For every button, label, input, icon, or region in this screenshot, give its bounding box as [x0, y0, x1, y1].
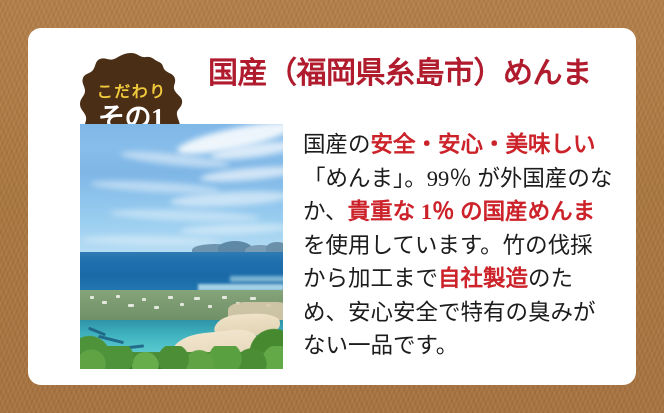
photo-foliage-canopy [80, 346, 283, 369]
town-building [208, 305, 212, 308]
page-title: 国産（福岡県糸島市）めんま [208, 57, 628, 91]
body-highlight-text: 安全・安心・美味しい [371, 132, 596, 157]
landscape-photo [80, 124, 283, 369]
body-highlight-text: 貴重な 1％ の国産めんま [348, 199, 596, 224]
poster-root: 国産（福岡県糸島市）めんま こだわり その1 [0, 0, 664, 413]
town-building [222, 296, 227, 299]
body-highlight-text: 自社製造 [438, 266, 528, 291]
town-building [194, 297, 200, 300]
town-building [102, 301, 107, 304]
body-text: 国産の [303, 132, 371, 157]
town-building [116, 295, 120, 298]
content-card: 国産（福岡県糸島市）めんま こだわり その1 [28, 28, 636, 385]
body-paragraph: 国産の安全・安心・美味しい「めんま」。99％ が外国産のなか、貴重な 1％ の国… [303, 128, 615, 363]
town-building [154, 306, 159, 309]
town-building [168, 296, 173, 299]
town-building [250, 297, 256, 300]
town-building [90, 296, 94, 299]
town-building [128, 304, 134, 307]
wave-foam [230, 276, 283, 282]
town-building [142, 298, 146, 301]
town-building [180, 303, 184, 306]
